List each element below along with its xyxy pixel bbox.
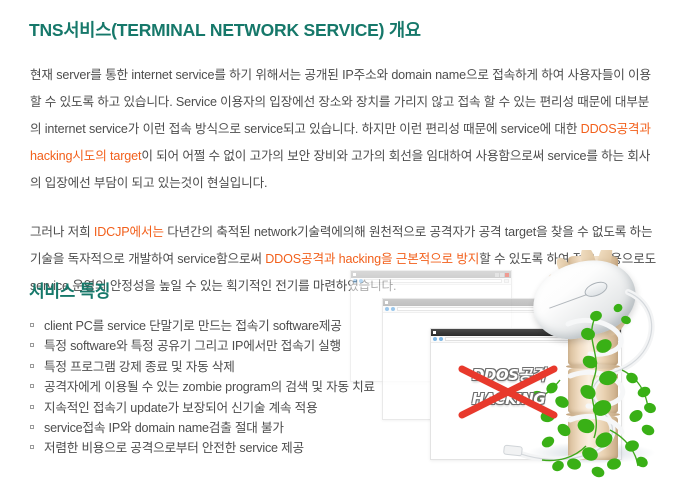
intro-p2-part1: 그러나 저희	[30, 225, 94, 239]
page-root: { "page": { "title": "TNS서비스(TERMINAL NE…	[0, 0, 680, 500]
square-bullet-icon	[30, 425, 34, 429]
list-item: 특정 software와 특정 공유기 그리고 IP에서만 접속기 실행	[30, 336, 410, 356]
browser-toolbar	[351, 278, 511, 285]
square-bullet-icon	[30, 343, 34, 347]
page-title: TNS서비스(TERMINAL NETWORK SERVICE) 개요	[29, 17, 421, 42]
features-section-title: 서비스 특징	[29, 277, 110, 302]
window-app-icon	[385, 301, 388, 304]
list-item: 특정 프로그램 강제 종료 및 자동 삭제	[30, 357, 410, 377]
square-bullet-icon	[30, 364, 34, 368]
square-bullet-icon	[30, 445, 34, 449]
list-item-label: 지속적인 접속기 update가 보장되어 신기술 계속 적용	[44, 401, 317, 415]
list-item-label: 공격자에게 이용될 수 있는 zombie program의 검색 및 자동 치…	[44, 380, 375, 394]
list-item: 지속적인 접속기 update가 보장되어 신기술 계속 적용	[30, 398, 410, 418]
features-list: client PC를 service 단말기로 만드는 접속기 software…	[30, 316, 410, 459]
square-bullet-icon	[30, 405, 34, 409]
list-item: client PC를 service 단말기로 만드는 접속기 software…	[30, 316, 410, 336]
list-item-label: service접속 IP와 domain name검출 절대 불가	[44, 421, 284, 435]
address-bar	[365, 279, 502, 283]
intro-p1-part1: 현재 server를 통한 internet service를 하기 위해서는 …	[30, 68, 651, 136]
list-item-label: client PC를 service 단말기로 만드는 접속기 software…	[44, 319, 342, 333]
list-item: 공격자에게 이용될 수 있는 zombie program의 검색 및 자동 치…	[30, 377, 410, 397]
forward-icon	[391, 307, 395, 311]
red-cross-icon	[458, 365, 558, 419]
list-item-label: 특정 프로그램 강제 종료 및 자동 삭제	[44, 360, 235, 374]
list-item-label: 특정 software와 특정 공유기 그리고 IP에서만 접속기 실행	[44, 339, 341, 353]
intro-paragraph-1: 현재 server를 통한 internet service를 하기 위해서는 …	[30, 62, 658, 197]
back-icon	[385, 307, 389, 311]
back-icon	[353, 279, 357, 283]
back-icon	[433, 337, 437, 341]
forward-icon	[439, 337, 443, 341]
window-titlebar	[351, 271, 511, 278]
intro-p2-highlight-idcjp: IDCJP에서는	[94, 225, 164, 239]
forward-icon	[359, 279, 363, 283]
list-item: service접속 IP와 domain name검출 절대 불가	[30, 418, 410, 438]
square-bullet-icon	[30, 323, 34, 327]
window-app-icon	[433, 331, 436, 334]
window-app-icon	[353, 273, 356, 276]
square-bullet-icon	[30, 384, 34, 388]
list-item-label: 저렴한 비용으로 공격으로부터 안전한 service 제공	[44, 441, 304, 455]
attack-blocked-badge: DDOS공격 HACKING	[456, 363, 561, 425]
list-item: 저렴한 비용으로 공격으로부터 안전한 service 제공	[30, 438, 410, 458]
